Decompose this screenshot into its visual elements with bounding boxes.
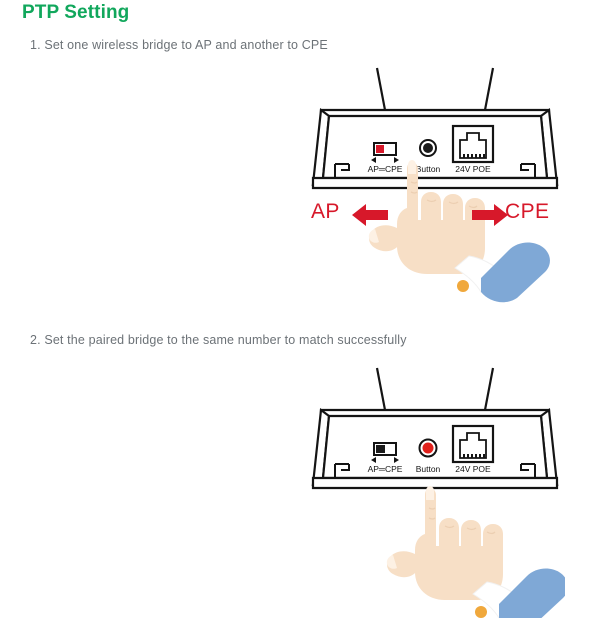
left-arrow-icon — [350, 203, 390, 227]
poe-port-label: 24V POE — [455, 464, 491, 474]
step-2-instruction: 2. Set the paired bridge to the same num… — [30, 333, 407, 347]
figure-ptp-step-2: AP═CPE Button 24V POE — [305, 358, 565, 638]
poe-port-label: 24V POE — [455, 164, 491, 174]
reset-button-icon[interactable] — [420, 440, 437, 457]
rj45-poe-port-icon — [453, 426, 493, 462]
pointing-hand-icon — [387, 486, 565, 618]
right-arrow-icon — [470, 203, 510, 227]
reset-button-icon[interactable] — [420, 140, 436, 156]
ap-cpe-switch-label: AP═CPE — [368, 164, 403, 174]
step-1-instruction: 1. Set one wireless bridge to AP and ano… — [30, 38, 328, 52]
reset-button-label: Button — [416, 464, 441, 474]
annotation-label-cpe: CPE — [505, 200, 549, 224]
ap-cpe-switch-icon[interactable] — [374, 443, 396, 455]
ap-cpe-switch-icon[interactable] — [374, 143, 396, 155]
figure-2-illustration: AP═CPE Button 24V POE — [305, 358, 565, 618]
cuff-button-dot-icon — [457, 280, 469, 292]
reset-button-label: Button — [416, 164, 441, 174]
cuff-button-dot-icon — [475, 606, 487, 618]
figure-ptp-step-1: AP═CPE Button 24V POE — [305, 58, 565, 338]
page-title: PTP Setting — [22, 2, 129, 24]
annotation-label-ap: AP — [311, 200, 340, 224]
rj45-poe-port-icon — [453, 126, 493, 162]
figure-1-illustration: AP═CPE Button 24V POE — [305, 58, 565, 338]
ap-cpe-switch-label: AP═CPE — [368, 464, 403, 474]
